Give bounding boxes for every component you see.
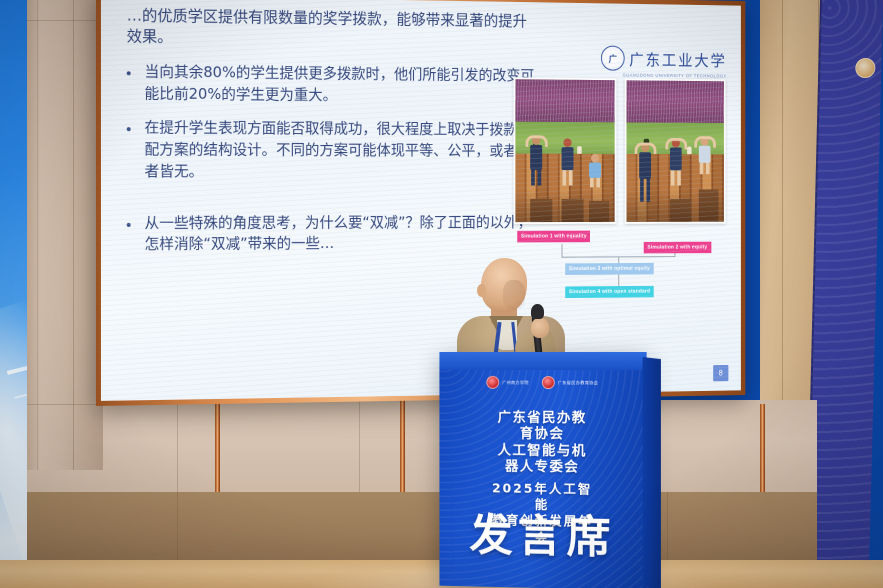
podium-logo-2: 广东省民办教育协会 [542, 376, 598, 389]
podium-logo-text-2: 广东省民办教育协会 [558, 380, 599, 386]
slide-bullet-2: 在提升学生表现方面能否取得成功，很大程度上取决于拨款分配方案的结构设计。不同的方… [127, 117, 538, 183]
slide-partial-top-line: …的优质学区提供有限数量的奖学拨款，能够带来显著的提升效果。 [127, 5, 538, 53]
podium-sign-text: 发言席 [469, 499, 615, 566]
podium-seal-icon-1 [486, 376, 499, 389]
simulation-label-2: Simulation 2 with equity [644, 242, 711, 254]
university-seal-icon: 广 [601, 46, 625, 71]
bullet-text-1: 当向其余80%的学生提供更多拨款时，他们所能引发的改变可能比前20%的学生更为重… [144, 61, 537, 107]
slide-bullet-3: 从一些特殊的角度思考，为什么要“双减”？除了正面的以外，怎样消除“双减”带来的一… [127, 212, 538, 256]
banner-emblem-icon [855, 58, 875, 78]
podium-title-line-1: 广东省民办教育协会 [490, 410, 594, 444]
equity-illustration [625, 78, 726, 223]
podium-title-line-2: 人工智能与机器人专委会 [490, 442, 594, 476]
simulation-label-1: Simulation 1 with equality [517, 231, 590, 243]
bullet-dot-icon [127, 222, 131, 226]
podium-logo-text-1: 广州南方学院 [502, 379, 529, 385]
copper-trim-1 [215, 398, 220, 494]
speaker-podium: 广州南方学院 广东省民办教育协会 广东省民办教育协会 人工智能与机器人专委会 2… [439, 352, 646, 588]
slide-university-logo: 广 广东工业大学 [601, 46, 727, 72]
slide-bullet-list: …的优质学区提供有限数量的奖学拨款，能够带来显著的提升效果。 当向其余80%的学… [127, 5, 538, 255]
flow-connector-v1 [562, 244, 563, 257]
bullet-text-2: 在提升学生表现方面能否取得成功，很大程度上取决于拨款分配方案的结构设计。不同的方… [144, 118, 537, 183]
copper-trim-3 [760, 404, 765, 496]
bullet-dot-icon [127, 127, 131, 131]
microphone-icon [531, 304, 544, 319]
photo-stage: 广 广东工业大学 GUANGDONG UNIVERSITY OF TECHNOL… [0, 0, 883, 588]
projection-screen: 广 广东工业大学 GUANGDONG UNIVERSITY OF TECHNOL… [101, 0, 741, 401]
presentation-slide: 广 广东工业大学 GUANGDONG UNIVERSITY OF TECHNOL… [101, 0, 741, 401]
podium-logo-row: 广州南方学院 广东省民办教育协会 [486, 376, 598, 389]
podium-seal-icon-2 [542, 376, 555, 389]
equality-illustration [514, 77, 617, 224]
simulation-label-3: Simulation 3 with optimal equity [565, 263, 653, 275]
podium-side-panel [643, 357, 661, 588]
slide-bullet-1: 当向其余80%的学生提供更多拨款时，他们所能引发的改变可能比前20%的学生更为重… [127, 61, 538, 108]
left-pillar [27, 0, 103, 470]
bullet-dot-icon [127, 71, 131, 75]
university-name: 广东工业大学 [629, 47, 726, 71]
speaker-ear [477, 284, 486, 297]
simulation-label-4: Simulation 4 with open standard [565, 286, 654, 298]
beige-wall [27, 400, 817, 500]
podium-logo-1: 广州南方学院 [486, 376, 528, 389]
copper-trim-2 [400, 400, 405, 496]
podium-top-edge [439, 352, 646, 370]
speaker-hand [531, 318, 549, 338]
bullet-text-3: 从一些特殊的角度思考，为什么要“双减”？除了正面的以外，怎样消除“双减”带来的一… [144, 212, 537, 256]
slide-page-number: 8 [713, 365, 728, 381]
projection-screen-frame: 广 广东工业大学 GUANGDONG UNIVERSITY OF TECHNOL… [96, 0, 745, 406]
speaker-face-shadow [503, 280, 525, 310]
